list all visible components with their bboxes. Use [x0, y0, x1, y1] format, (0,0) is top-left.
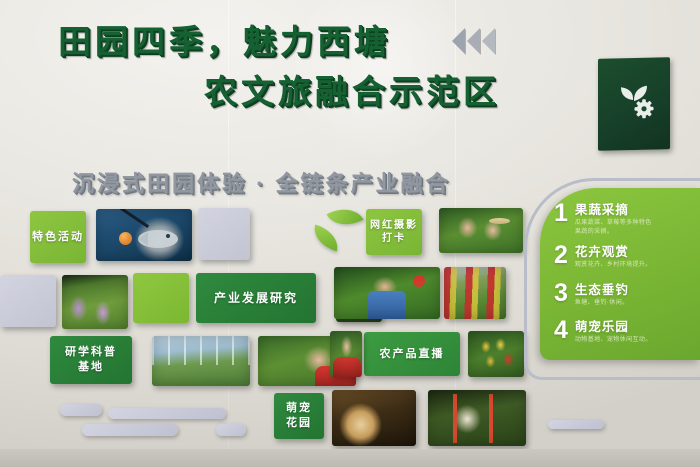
tile-product-livestream[interactable]: 农产品直播 — [364, 332, 460, 376]
tile-photo-puppy[interactable] — [332, 390, 416, 446]
tile-photo-girl[interactable] — [330, 331, 362, 377]
tile-label-line-1: 网红摄影 — [370, 219, 418, 233]
leaf-icon — [310, 225, 342, 252]
chevron-left-icon — [482, 28, 495, 54]
panel-item-3[interactable]: 3 生态垂钓 鱼塘、垂钓·休闲。 — [554, 282, 629, 308]
tile-photo-flower-field[interactable] — [62, 275, 128, 329]
exhibition-wall-photo: 田园四季，魅力西塘 农文旅融合示范区 沉浸式田园体验 · 全链条产业融合 特色活… — [0, 0, 700, 467]
leaf-decoration — [312, 206, 370, 264]
item-subtext: 观赏花卉、乡村环境提升。 — [575, 261, 652, 270]
tile-label-line-1: 研学科普 — [65, 345, 117, 360]
sprout-and-gear-icon — [610, 73, 658, 122]
tile-blank-grey[interactable] — [198, 208, 250, 260]
photo-vegetable-basket — [468, 331, 524, 377]
tile-photo-farmer[interactable] — [334, 267, 440, 319]
panel-item-2[interactable]: 2 花卉观赏 观赏花卉、乡村环境提升。 — [554, 244, 652, 270]
logo-panel — [598, 57, 670, 151]
tile-label: 农产品直播 — [364, 332, 460, 376]
tile-photo-dog-play[interactable] — [428, 390, 526, 446]
tile-study-science-base[interactable]: 研学科普 基地 — [50, 336, 132, 384]
tile-label: 网红摄影 打卡 — [366, 209, 422, 255]
cloud-wave-shape — [548, 420, 604, 429]
item-heading: 花卉观赏 — [575, 245, 652, 259]
panel-item-1[interactable]: 1 果蔬采摘 瓜果蔬菜、草莓等多种特色 果蔬的采摘。 — [554, 202, 652, 237]
item-heading: 萌宠乐园 — [575, 320, 652, 334]
item-number: 2 — [554, 244, 568, 267]
tile-photo-vegetables[interactable] — [468, 331, 524, 377]
cloud-wave-shape — [82, 424, 178, 436]
chevron-left-icon — [467, 28, 480, 54]
leaf-icon — [327, 200, 364, 234]
triple-chevron-left-icon — [452, 28, 495, 54]
tile-blank-light-green[interactable] — [133, 273, 189, 323]
photo-tulip-greenhouse — [444, 267, 506, 319]
tile-photo-mother-and-child[interactable] — [439, 208, 523, 253]
tile-featured-activities[interactable]: 特色活动 — [30, 211, 86, 263]
page-subtitle: 沉浸式田园体验 · 全链条产业融合 — [72, 166, 451, 198]
highlights-panel: 1 果蔬采摘 瓜果蔬菜、草莓等多种特色 果蔬的采摘。 2 花卉观赏 观赏花卉、乡… — [540, 188, 700, 360]
item-number: 4 — [554, 319, 568, 342]
tile-label-line-2: 花园 — [286, 416, 312, 431]
title-line-2: 农文旅融合示范区 — [204, 72, 558, 112]
panel-item-4[interactable]: 4 萌宠乐园 动物基地、宠物休闲互动。 — [554, 319, 652, 345]
tile-blank-grey[interactable] — [0, 275, 56, 327]
tile-industry-research[interactable]: 产业发展研究 — [196, 273, 316, 323]
tile-pet-garden[interactable]: 萌宠 花园 — [274, 393, 324, 439]
item-subtext: 鱼塘、垂钓·休闲。 — [575, 299, 629, 308]
tile-label-line-1: 萌宠 — [286, 401, 312, 416]
photo-girl-in-red — [330, 331, 362, 377]
photo-flower-field — [62, 275, 128, 329]
item-subtext: 动物基地、宠物休闲互动。 — [575, 336, 652, 345]
photo-mother-and-child — [439, 208, 523, 253]
item-heading: 生态垂钓 — [575, 283, 629, 297]
tile-photo-checkin[interactable]: 网红摄影 打卡 — [366, 209, 422, 255]
photo-fishing-rod-and-fish — [96, 209, 192, 261]
photo-farmer-with-tomatoes — [334, 267, 440, 319]
tile-label: 特色活动 — [30, 211, 86, 263]
cloud-wave-shape — [60, 404, 102, 416]
photo-dog-agility-play — [428, 390, 526, 446]
photo-greenhouse-tunnel — [152, 336, 250, 386]
tile-label: 研学科普 基地 — [50, 336, 132, 384]
tile-photo-fishing[interactable] — [96, 209, 192, 261]
floor-strip — [0, 449, 700, 467]
tile-photo-tulips[interactable] — [444, 267, 506, 319]
item-heading: 果蔬采摘 — [575, 203, 652, 217]
item-subtext: 瓜果蔬菜、草莓等多种特色 果蔬的采摘。 — [575, 219, 652, 237]
chevron-left-icon — [452, 28, 465, 54]
item-number: 1 — [554, 202, 568, 225]
tile-label-line-2: 基地 — [78, 360, 104, 375]
photo-puppy-high-five — [332, 390, 416, 446]
cloud-wave-shape — [216, 424, 246, 436]
cloud-wave-shape — [108, 408, 226, 419]
tile-label: 产业发展研究 — [196, 273, 316, 323]
tile-label: 萌宠 花园 — [274, 393, 324, 439]
item-number: 3 — [554, 282, 568, 305]
tile-photo-greenhouse[interactable] — [152, 336, 250, 386]
tile-label-line-2: 打卡 — [382, 232, 406, 246]
